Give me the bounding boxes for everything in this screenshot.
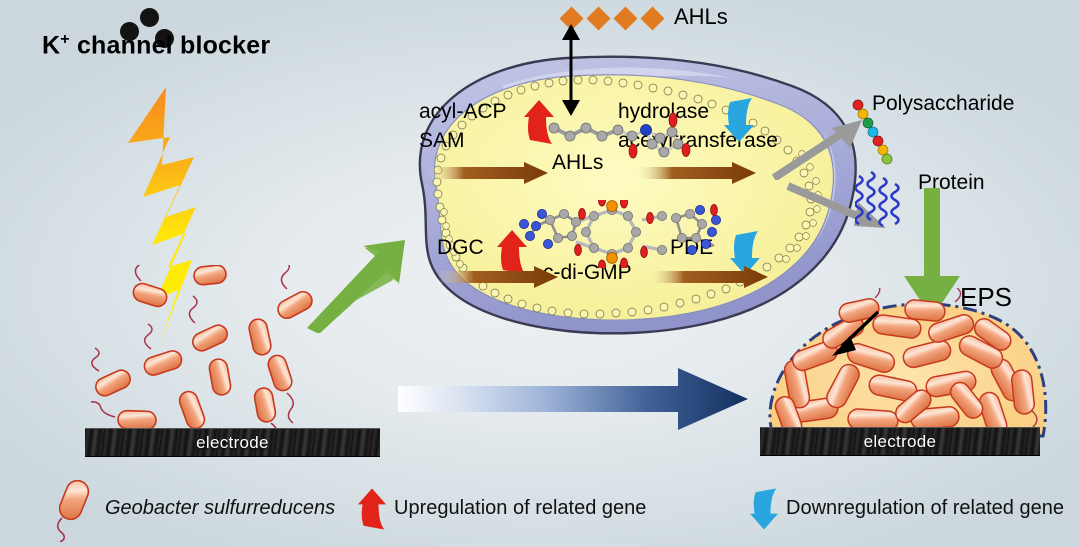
c-di-gmp-molecule-structure (516, 200, 724, 268)
figure-canvas: K+ channel blocker (0, 0, 1080, 547)
biofilm-transition-arrow-icon (398, 366, 748, 432)
k-channel-blocker-text: channel blocker (70, 31, 271, 59)
brown-arrow-dgc-icon (438, 266, 558, 288)
acyl-acp-label: acyl-ACP (419, 101, 507, 122)
ahls-top-label: AHLs (674, 6, 728, 28)
eps-label: EPS (960, 284, 1012, 310)
k-plus-superscript: + (60, 31, 70, 48)
k-channel-blocker-label: K+ channel blocker (42, 32, 270, 58)
electrode-right: electrode (760, 427, 1040, 456)
brown-arrow-pde-icon (648, 266, 768, 288)
legend-label-geobacter: Geobacter sulfurreducens (105, 497, 335, 520)
figure-legend: Geobacter sulfurreducens Upregulation of… (0, 470, 1080, 547)
eps-pointer-arrow-icon (826, 308, 884, 356)
polysaccharide-label: Polysaccharide (872, 93, 1014, 114)
electrode-left: electrode (85, 428, 380, 457)
k-symbol: K (42, 31, 60, 59)
bacterium-icon (50, 480, 102, 542)
brown-arrow-synthesis-icon (428, 162, 548, 184)
up-arrow-icon (358, 488, 386, 530)
down-arrow-icon (750, 488, 778, 530)
ahl-molecule-structure (546, 110, 706, 162)
legend-label-upregulation: Upregulation of related gene (394, 497, 646, 520)
sam-label: SAM (419, 130, 465, 151)
ahl-transport-double-arrow-icon (556, 24, 586, 116)
legend-label-downregulation: Downregulation of related gene (786, 497, 1064, 520)
electrode-left-label: electrode (196, 433, 269, 453)
downregulation-arrow-icon (724, 98, 754, 142)
blocker-dot-icon (140, 8, 159, 27)
brown-arrow-degradation-icon (636, 162, 756, 184)
electrode-right-label: electrode (864, 432, 937, 452)
dgc-label: DGC (437, 237, 484, 258)
